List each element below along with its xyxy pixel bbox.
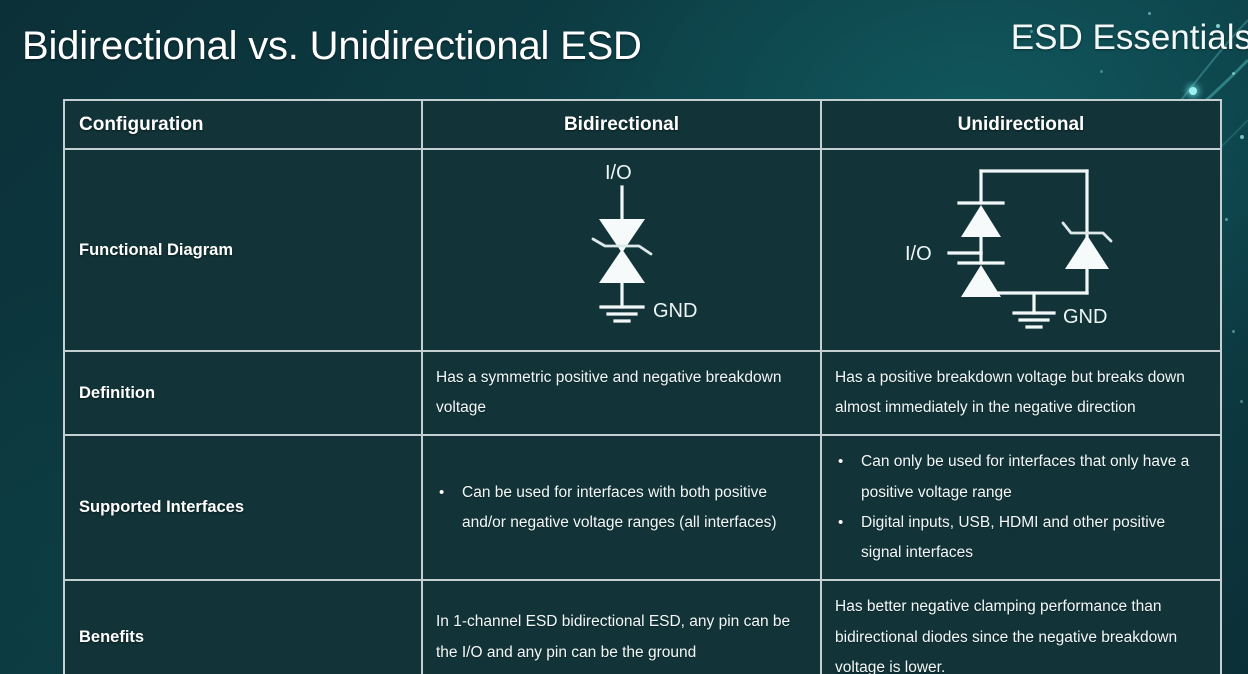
cell-definition-bidirectional: Has a symmetric positive and negative br… [422,351,821,435]
io-label: I/O [605,162,632,184]
column-header-bidirectional: Bidirectional [422,100,821,149]
cell-benefits-unidirectional: Has better negative clamping performance… [821,580,1221,674]
cell-bidirectional-diagram: I/O [422,149,821,351]
column-header-unidirectional: Unidirectional [821,100,1221,149]
row-label-definition: Definition [64,351,422,435]
column-header-configuration: Configuration [64,100,422,149]
table-body: Functional Diagram I/O [64,149,1221,674]
bidirectional-tvs-diode-schematic: I/O [517,157,727,343]
list-item-label: Can be used for interfaces with both pos… [462,484,777,531]
list-item: •Digital inputs, USB, HDMI and other pos… [835,508,1206,568]
bullet-icon: • [838,447,843,476]
comparison-table: Configuration Bidirectional Unidirection… [63,99,1222,674]
cell-benefits-bidirectional: In 1-channel ESD bidirectional ESD, any … [422,580,821,674]
cell-supported-interfaces-bidirectional: •Can be used for interfaces with both po… [422,435,821,580]
table-row: Supported Interfaces •Can be used for in… [64,435,1221,580]
particle-dot [1225,218,1228,221]
cell-supported-interfaces-unidirectional: •Can only be used for interfaces that on… [821,435,1221,580]
table-row: Benefits In 1-channel ESD bidirectional … [64,580,1221,674]
io-label: I/O [905,243,932,265]
bullet-icon: • [838,508,843,537]
page-title: Bidirectional vs. Unidirectional ESD [22,24,642,69]
list-item: •Can only be used for interfaces that on… [835,447,1206,507]
bullet-icon: • [439,478,444,507]
row-label-supported-interfaces: Supported Interfaces [64,435,422,580]
list-item: •Can be used for interfaces with both po… [436,478,806,538]
cell-definition-unidirectional: Has a positive breakdown voltage but bre… [821,351,1221,435]
slide-header: Bidirectional vs. Unidirectional ESD ESD… [0,0,1248,92]
row-label-benefits: Benefits [64,580,422,674]
table-header: Configuration Bidirectional Unidirection… [64,100,1221,149]
slide-canvas: Bidirectional vs. Unidirectional ESD ESD… [0,0,1248,674]
gnd-label: GND [653,300,697,322]
list-item-label: Digital inputs, USB, HDMI and other posi… [861,514,1165,561]
bullet-list-unidirectional: •Can only be used for interfaces that on… [835,447,1206,568]
table-row: Definition Has a symmetric positive and … [64,351,1221,435]
row-label-functional-diagram: Functional Diagram [64,149,422,351]
bullet-list-bidirectional: •Can be used for interfaces with both po… [436,478,806,538]
series-label: ESD Essentials [1011,18,1248,58]
table-row: Functional Diagram I/O [64,149,1221,351]
particle-dot [1240,135,1244,139]
table-header-row: Configuration Bidirectional Unidirection… [64,100,1221,149]
particle-dot [1232,330,1235,333]
list-item-label: Can only be used for interfaces that onl… [861,453,1189,500]
cell-unidirectional-diagram: I/O [821,149,1221,351]
gnd-label: GND [1063,306,1107,328]
particle-dot [1240,400,1243,403]
unidirectional-steering-diode-schematic: I/O [891,157,1151,343]
